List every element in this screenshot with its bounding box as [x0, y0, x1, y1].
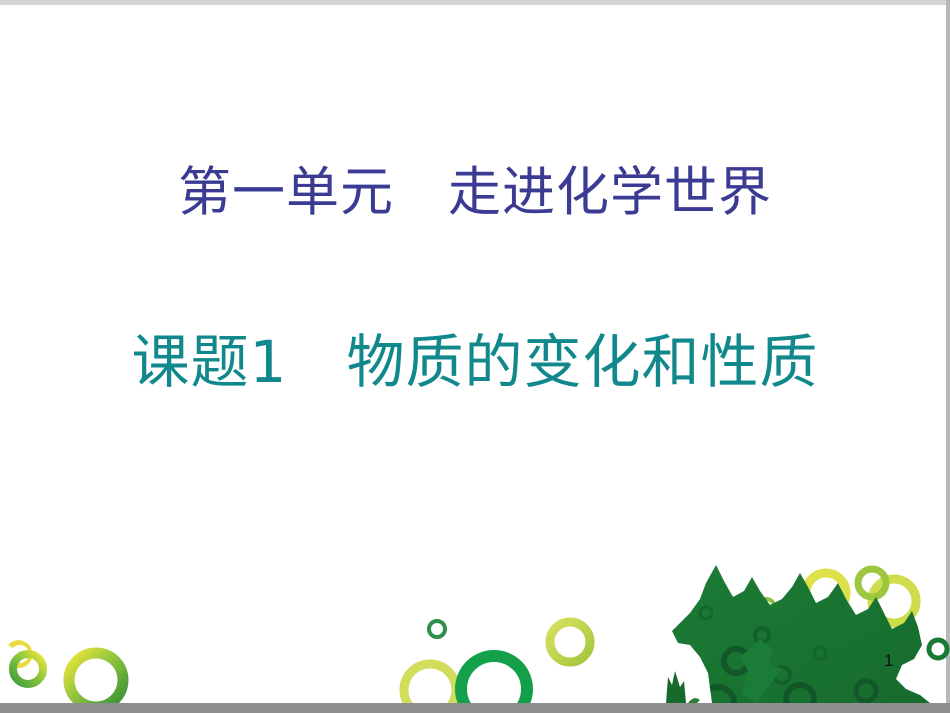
maple-leaf — [672, 565, 930, 703]
slide-top-inner-border — [0, 5, 950, 8]
bubble-cluster-middle — [404, 621, 590, 703]
unit-title: 第一单元 走进化学世界 — [0, 160, 950, 226]
slide-bottom-bar — [0, 703, 950, 713]
grass-sprout — [666, 671, 700, 703]
footer-decoration — [0, 553, 950, 703]
bubble-cluster-over-leaf — [702, 569, 916, 654]
leaf-inner-bubbles — [700, 607, 876, 703]
yellow-blob — [727, 636, 793, 702]
title-block: 第一单元 走进化学世界 课题1 物质的变化和性质 — [0, 160, 950, 399]
bubble-cluster-left — [8, 640, 123, 703]
lesson-title: 课题1 物质的变化和性质 — [0, 326, 950, 399]
presentation-slide: 第一单元 走进化学世界 课题1 物质的变化和性质 — [0, 0, 950, 713]
page-number: 1 — [884, 652, 893, 669]
bubble-far-right — [929, 640, 947, 658]
